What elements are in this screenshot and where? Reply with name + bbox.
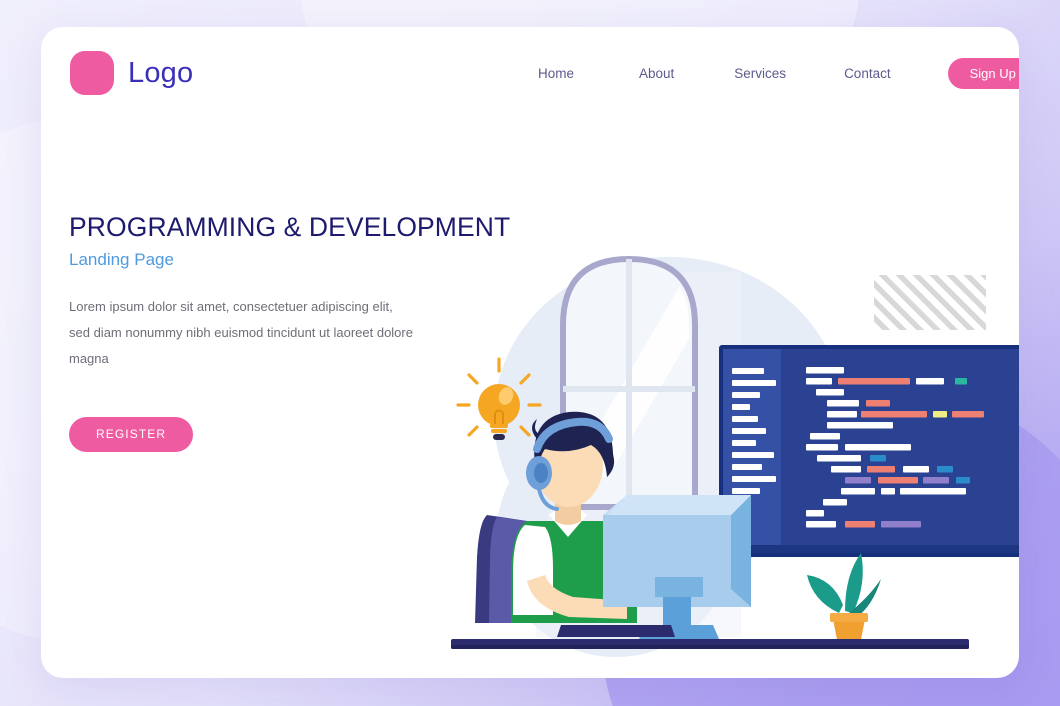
site-header: Logo Home About Services Contact Sign Up [41,27,1019,142]
nav-link-about[interactable]: About [639,60,674,87]
nav-link-home[interactable]: Home [538,60,574,87]
page-root: Logo Home About Services Contact Sign Up… [0,0,1060,706]
register-button[interactable]: REGISTER [69,417,193,452]
brand-logo[interactable]: Logo [70,51,193,95]
landing-page-card: Logo Home About Services Contact Sign Up… [41,27,1019,678]
desk [451,639,969,649]
potted-plant [807,553,881,645]
code-screen [719,345,1019,557]
page-subtitle: Landing Page [69,250,489,270]
nav-link-contact[interactable]: Contact [844,60,891,87]
hero-paragraph: Lorem ipsum dolor sit amet, consectetuer… [69,294,414,372]
sign-up-button[interactable]: Sign Up [948,58,1019,89]
main-navigation: Home About Services Contact Sign Up [496,58,1019,89]
hero-content: PROGRAMMING & DEVELOPMENT Landing Page L… [69,212,489,452]
page-title: PROGRAMMING & DEVELOPMENT [69,212,489,242]
logo-mark-icon [70,51,114,95]
logo-text: Logo [128,57,193,90]
nav-link-services[interactable]: Services [734,60,786,87]
hatch-square-icon [874,275,986,330]
keyboard [557,625,675,637]
developer-at-desk-illustration [441,177,1019,678]
